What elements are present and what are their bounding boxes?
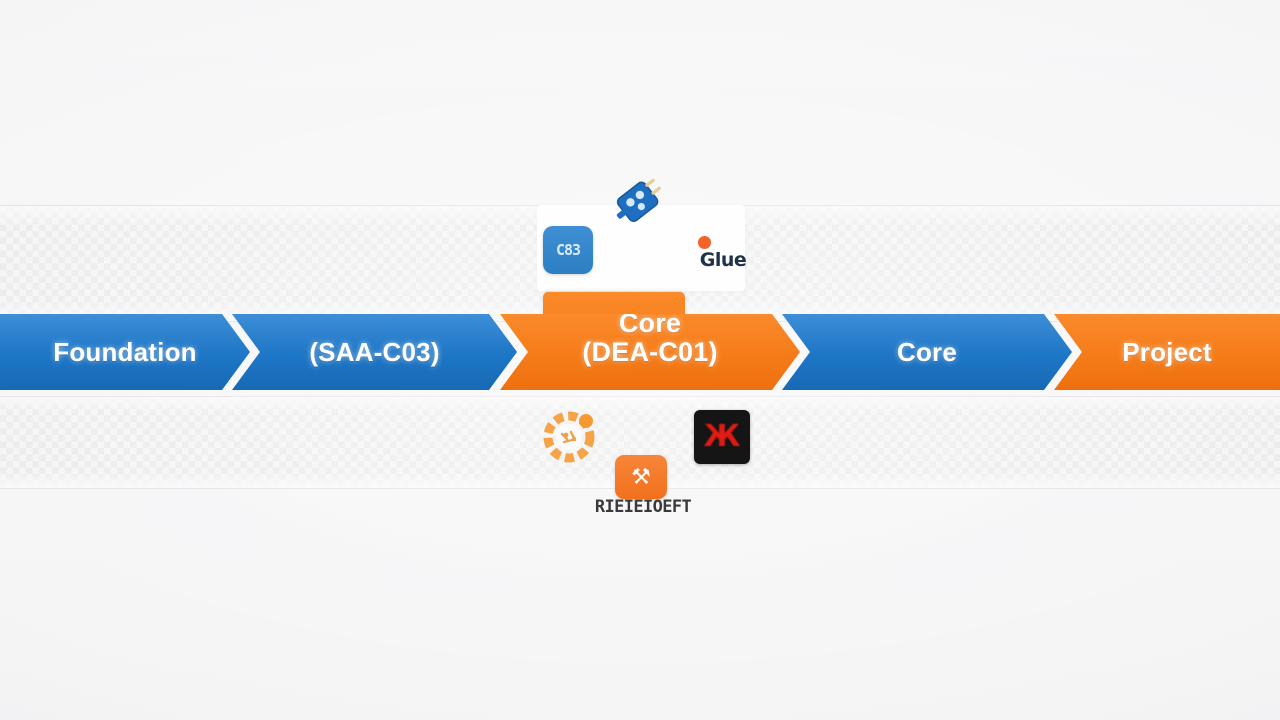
- diagram-canvas: C83 Glue Foundation (SAA-C03): [0, 0, 1280, 720]
- timeline-segment-saa-c03[interactable]: (SAA-C03): [232, 314, 517, 390]
- timeline-segment-core-label: Core: [782, 338, 1072, 366]
- service-badge-icon[interactable]: C83: [543, 226, 593, 274]
- timeline-segment-project[interactable]: Project: [1054, 314, 1280, 390]
- band-hairline-3: [0, 396, 1280, 397]
- timeline-segment-foundation-label: Foundation: [0, 338, 250, 366]
- glue-logo-wordmark: Glue: [690, 251, 756, 270]
- black-square-red-glyph-icon[interactable]: Ж: [694, 410, 750, 464]
- glue-logo-icon[interactable]: Glue: [690, 236, 756, 284]
- timeline-segment-dea-c01-label: Core (DEA-C01): [500, 309, 800, 367]
- timeline-segment-project-label: Project: [1054, 338, 1280, 366]
- orange-app-caption: RIEIEIOEFT: [586, 497, 700, 517]
- timeline-segment-core[interactable]: Core: [782, 314, 1072, 390]
- orange-app-icon[interactable]: ⚒: [615, 455, 667, 499]
- gear-service-icon[interactable]: [540, 408, 598, 464]
- glue-logo-dot: [698, 236, 711, 249]
- service-badge-glyph: C83: [556, 241, 580, 259]
- plug-connector-icon[interactable]: [606, 172, 668, 230]
- timeline-segment-dea-c01[interactable]: Core (DEA-C01): [500, 314, 800, 390]
- timeline-segment-saa-c03-label: (SAA-C03): [232, 338, 517, 366]
- orange-app-glyph: ⚒: [631, 466, 651, 488]
- timeline-segment-foundation[interactable]: Foundation: [0, 314, 250, 390]
- timeline-segment-dea-c01-line2: (DEA-C01): [510, 338, 790, 367]
- timeline-track: Foundation (SAA-C03) Core (DEA-C01) Core…: [0, 314, 1280, 390]
- black-square-glyph: Ж: [704, 422, 741, 452]
